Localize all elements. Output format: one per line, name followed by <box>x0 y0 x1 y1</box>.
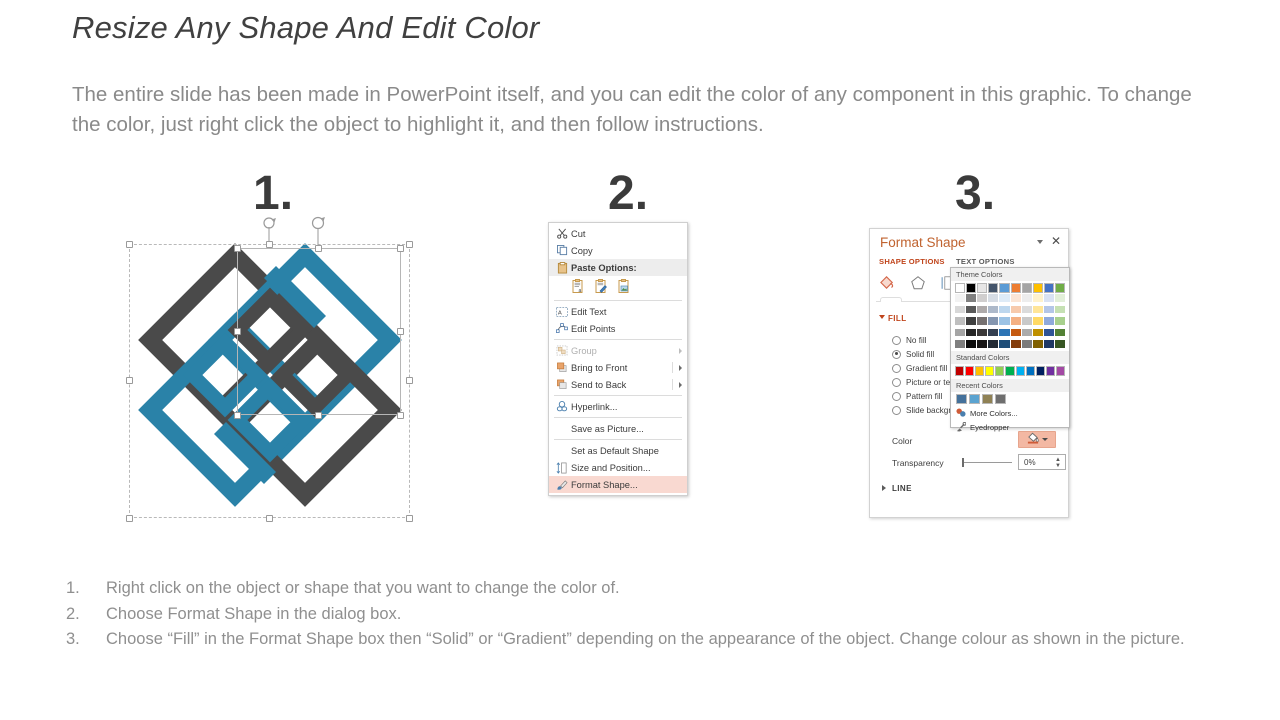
recent-colors-heading: Recent Colors <box>951 379 1069 392</box>
resize-handle-nw[interactable] <box>126 241 133 248</box>
color-picker-flyout[interactable]: Theme Colors Standard Colors Recent Colo… <box>950 267 1070 428</box>
theme-tint-swatch-3-0[interactable] <box>955 329 965 337</box>
theme-tint-swatch-2-1[interactable] <box>966 317 976 325</box>
more-colors-label: More Colors... <box>970 409 1018 418</box>
standard-colors-grid[interactable] <box>951 364 1069 379</box>
resize-handle-s[interactable] <box>266 515 273 522</box>
theme-colors-grid[interactable] <box>951 281 1069 293</box>
slider-knob[interactable] <box>962 458 964 467</box>
theme-color-swatch-6[interactable] <box>1022 283 1032 293</box>
submenu-divider <box>672 362 673 373</box>
theme-tint-swatch-0-5[interactable] <box>1011 294 1021 302</box>
theme-tint-swatch-1-4[interactable] <box>999 306 1009 314</box>
format-icon-row[interactable] <box>879 274 954 296</box>
resize-handle-sw[interactable] <box>126 515 133 522</box>
menu-item-label: Bring to Front <box>571 363 687 373</box>
instruction-number: 3. <box>66 627 106 653</box>
theme-tint-swatch-1-5[interactable] <box>1011 306 1021 314</box>
rotation-handle-outer[interactable] <box>261 217 277 233</box>
no-icon <box>553 421 571 436</box>
standard-color-swatch-5[interactable] <box>1005 366 1014 376</box>
menu-item-copy[interactable]: Copy <box>549 242 687 259</box>
theme-tint-swatch-1-2[interactable] <box>977 306 987 314</box>
theme-tint-swatch-1-9[interactable] <box>1055 306 1065 314</box>
standard-color-swatch-4[interactable] <box>995 366 1004 376</box>
theme-tint-swatch-4-9[interactable] <box>1055 340 1065 348</box>
theme-tint-swatch-0-2[interactable] <box>977 294 987 302</box>
color-label: Color <box>892 436 912 446</box>
inner-resize-handle-w[interactable] <box>234 328 241 335</box>
menu-item-label: Format Shape... <box>571 480 687 490</box>
standard-color-swatch-2[interactable] <box>975 366 984 376</box>
theme-tint-swatch-4-8[interactable] <box>1044 340 1054 348</box>
theme-color-swatch-9[interactable] <box>1055 283 1065 293</box>
no-icon <box>553 443 571 458</box>
tab-shape-options[interactable]: SHAPE OPTIONS <box>879 257 945 266</box>
theme-tint-swatch-1-7[interactable] <box>1033 306 1043 314</box>
menu-item-label: Cut <box>571 229 687 239</box>
copy-icon <box>553 243 571 258</box>
submenu-arrow-icon <box>679 365 682 371</box>
instruction-text: Right click on the object or shape that … <box>106 576 1276 602</box>
svg-text:a: a <box>579 288 582 294</box>
section-heading-line: LINE <box>892 484 912 493</box>
theme-tint-swatch-4-0[interactable] <box>955 340 965 348</box>
standard-color-swatch-9[interactable] <box>1046 366 1055 376</box>
theme-tint-swatch-2-6[interactable] <box>1022 317 1032 325</box>
radio-icon <box>892 336 901 345</box>
theme-tint-row-2[interactable] <box>951 316 1069 328</box>
paste-picture-icon[interactable] <box>617 279 631 296</box>
menu-item-edit-text[interactable]: A Edit Text <box>549 303 687 320</box>
theme-tint-swatch-2-2[interactable] <box>977 317 987 325</box>
menu-separator <box>554 439 682 440</box>
recent-color-swatch-1[interactable] <box>969 394 980 404</box>
step-number-1: 1. <box>253 170 293 218</box>
theme-tint-swatch-1-1[interactable] <box>966 306 976 314</box>
resize-handle-w[interactable] <box>126 377 133 384</box>
theme-tint-swatch-1-3[interactable] <box>988 306 998 314</box>
theme-tint-swatch-4-1[interactable] <box>966 340 976 348</box>
radio-icon-selected <box>892 350 901 359</box>
theme-tint-swatch-3-4[interactable] <box>999 329 1009 337</box>
instruction-number: 2. <box>66 602 106 628</box>
step-number-2: 2. <box>608 170 648 218</box>
menu-item-label: Hyperlink... <box>571 402 687 412</box>
paste-options-row[interactable]: a <box>549 276 687 298</box>
inner-resize-handle-ne[interactable] <box>397 245 404 252</box>
theme-tint-swatch-2-3[interactable] <box>988 317 998 325</box>
theme-tint-swatch-3-7[interactable] <box>1033 329 1043 337</box>
menu-item-label: Size and Position... <box>571 463 687 473</box>
shape-graphic-panel[interactable] <box>120 225 420 525</box>
recent-color-swatch-0[interactable] <box>956 394 967 404</box>
theme-tint-swatch-2-7[interactable] <box>1033 317 1043 325</box>
paste-keep-source-icon[interactable]: a <box>571 279 585 296</box>
transparency-slider[interactable] <box>962 462 1012 463</box>
edit-text-icon: A <box>553 304 571 319</box>
standard-color-swatch-6[interactable] <box>1016 366 1025 376</box>
theme-tint-swatch-0-0[interactable] <box>955 294 965 302</box>
group-icon <box>553 343 571 358</box>
theme-tint-swatch-4-4[interactable] <box>999 340 1009 348</box>
instruction-text: Choose Format Shape in the dialog box. <box>106 602 1276 628</box>
color-dropdown-caret-icon[interactable] <box>1042 438 1048 441</box>
selection-bounds-inner <box>237 248 401 415</box>
theme-color-swatch-7[interactable] <box>1033 283 1043 293</box>
transparency-value: 0% <box>1024 458 1036 467</box>
standard-color-swatch-7[interactable] <box>1026 366 1035 376</box>
size-position-icon <box>553 460 571 475</box>
theme-tint-row-0[interactable] <box>951 293 1069 305</box>
more-colors-item[interactable]: More Colors... <box>951 407 1069 421</box>
menu-item-label: Paste Options: <box>571 263 687 273</box>
theme-tint-swatch-2-4[interactable] <box>999 317 1009 325</box>
theme-color-swatch-1[interactable] <box>966 283 976 293</box>
theme-tint-swatch-0-3[interactable] <box>988 294 998 302</box>
format-shape-title: Format Shape <box>880 235 966 250</box>
menu-item-label: Group <box>571 346 687 356</box>
effects-icon[interactable] <box>910 275 926 296</box>
instruction-number: 1. <box>66 576 106 602</box>
resize-handle-ne[interactable] <box>406 241 413 248</box>
menu-item-cut[interactable]: Cut <box>549 225 687 242</box>
inner-resize-handle-sw[interactable] <box>234 412 241 419</box>
instruction-text: Choose “Fill” in the Format Shape box th… <box>106 627 1276 653</box>
paste-destination-theme-icon[interactable] <box>594 279 608 296</box>
menu-separator <box>554 300 682 301</box>
standard-color-swatch-10[interactable] <box>1056 366 1065 376</box>
theme-tint-swatch-2-0[interactable] <box>955 317 965 325</box>
theme-tint-swatch-4-5[interactable] <box>1011 340 1021 348</box>
radio-label: Solid fill <box>906 350 934 359</box>
theme-tint-swatch-1-8[interactable] <box>1044 306 1054 314</box>
pane-options-chevron-icon[interactable] <box>1037 240 1043 244</box>
fill-expand-caret-icon[interactable] <box>879 315 885 319</box>
tab-text-options[interactable]: TEXT OPTIONS <box>956 257 1015 266</box>
menu-item-label: Edit Text <box>571 307 687 317</box>
menu-item-size-and-position[interactable]: Size and Position... <box>549 459 687 476</box>
theme-tint-swatch-3-1[interactable] <box>966 329 976 337</box>
rotation-handle-inner[interactable] <box>310 217 326 233</box>
inner-resize-handle-nw[interactable] <box>234 245 241 252</box>
theme-tint-swatch-3-6[interactable] <box>1022 329 1032 337</box>
theme-colors-heading: Theme Colors <box>951 268 1069 281</box>
scissors-icon <box>553 226 571 241</box>
theme-tint-swatch-0-6[interactable] <box>1022 294 1032 302</box>
theme-tint-swatch-0-9[interactable] <box>1055 294 1065 302</box>
theme-color-swatch-5[interactable] <box>1011 283 1021 293</box>
theme-tint-swatch-1-0[interactable] <box>955 306 965 314</box>
theme-color-swatch-0[interactable] <box>955 283 965 293</box>
theme-color-swatch-3[interactable] <box>988 283 998 293</box>
format-shape-icon <box>553 477 571 492</box>
standard-color-swatch-0[interactable] <box>955 366 964 376</box>
radio-label: No fill <box>906 336 926 345</box>
send-back-icon <box>553 377 571 392</box>
recent-colors-grid[interactable] <box>951 392 1069 407</box>
menu-item-bring-to-front[interactable]: Bring to Front <box>549 359 687 376</box>
menu-item-send-to-back[interactable]: Send to Back <box>549 376 687 393</box>
fill-line-icon[interactable] <box>879 274 896 296</box>
theme-tint-swatch-2-5[interactable] <box>1011 317 1021 325</box>
theme-tint-swatch-0-4[interactable] <box>999 294 1009 302</box>
menu-item-set-default-shape[interactable]: Set as Default Shape <box>549 442 687 459</box>
transparency-value-field[interactable]: 0% ▲▼ <box>1018 454 1066 470</box>
theme-tint-swatch-3-2[interactable] <box>977 329 987 337</box>
resize-handle-e[interactable] <box>406 377 413 384</box>
menu-item-label: Edit Points <box>571 324 687 334</box>
inner-resize-handle-s[interactable] <box>315 412 322 419</box>
instructions-list: 1. Right click on the object or shape th… <box>66 576 1276 653</box>
edit-points-icon <box>553 321 571 336</box>
theme-color-swatch-4[interactable] <box>999 283 1009 293</box>
line-expand-caret-icon[interactable] <box>882 485 886 491</box>
context-menu[interactable]: Cut Copy Paste Options: a <box>548 222 688 496</box>
theme-tint-swatch-3-8[interactable] <box>1044 329 1054 337</box>
menu-separator <box>554 395 682 396</box>
inner-resize-handle-e[interactable] <box>397 328 404 335</box>
standard-color-swatch-8[interactable] <box>1036 366 1045 376</box>
recent-color-swatch-2[interactable] <box>982 394 993 404</box>
theme-tint-swatch-0-8[interactable] <box>1044 294 1054 302</box>
radio-label: Pattern fill <box>906 392 942 401</box>
bring-front-icon <box>553 360 571 375</box>
menu-separator <box>554 339 682 340</box>
eyedropper-item[interactable]: Eyedropper <box>951 421 1069 435</box>
recent-color-swatch-3[interactable] <box>995 394 1006 404</box>
transparency-label: Transparency <box>892 458 944 468</box>
inner-resize-handle-se[interactable] <box>397 412 404 419</box>
page-subtitle: The entire slide has been made in PowerP… <box>72 80 1212 140</box>
standard-color-swatch-1[interactable] <box>965 366 974 376</box>
menu-item-format-shape[interactable]: Format Shape... <box>549 476 687 493</box>
slide: Resize Any Shape And Edit Color The enti… <box>0 0 1280 720</box>
theme-tint-row-4[interactable] <box>951 339 1069 351</box>
standard-color-swatch-3[interactable] <box>985 366 994 376</box>
theme-tint-swatch-4-3[interactable] <box>988 340 998 348</box>
menu-item-hyperlink[interactable]: Hyperlink... <box>549 398 687 415</box>
standard-colors-heading: Standard Colors <box>951 351 1069 364</box>
radio-icon <box>892 406 901 415</box>
theme-tint-swatch-3-3[interactable] <box>988 329 998 337</box>
step-number-3: 3. <box>955 170 995 218</box>
svg-text:A: A <box>558 310 562 316</box>
theme-tints-grid[interactable] <box>951 293 1069 351</box>
theme-tint-row-3[interactable] <box>951 328 1069 340</box>
menu-item-paste-options: Paste Options: <box>549 259 687 276</box>
theme-color-swatch-8[interactable] <box>1044 283 1054 293</box>
theme-color-swatch-2[interactable] <box>977 283 987 293</box>
menu-separator <box>554 417 682 418</box>
theme-tint-swatch-1-6[interactable] <box>1022 306 1032 314</box>
theme-tint-swatch-2-9[interactable] <box>1055 317 1065 325</box>
theme-tint-row-1[interactable] <box>951 305 1069 317</box>
menu-item-group: Group <box>549 342 687 359</box>
spinner-arrows-icon[interactable]: ▲▼ <box>1055 457 1061 469</box>
submenu-arrow-icon <box>679 382 682 388</box>
radio-icon <box>892 392 901 401</box>
menu-item-label: Send to Back <box>571 380 687 390</box>
resize-handle-se[interactable] <box>406 515 413 522</box>
eyedropper-icon <box>956 422 966 434</box>
section-heading-fill: FILL <box>888 314 906 323</box>
radio-icon <box>892 378 901 387</box>
theme-tint-swatch-2-8[interactable] <box>1044 317 1054 325</box>
menu-item-label: Copy <box>571 246 687 256</box>
submenu-divider <box>672 379 673 390</box>
radio-label: Gradient fill <box>906 364 947 373</box>
radio-icon <box>892 364 901 373</box>
page-title: Resize Any Shape And Edit Color <box>72 10 539 46</box>
more-colors-icon <box>956 408 966 420</box>
clipboard-icon <box>553 260 571 275</box>
theme-tint-swatch-3-5[interactable] <box>1011 329 1021 337</box>
close-icon[interactable]: ✕ <box>1051 235 1061 247</box>
theme-tint-swatch-3-9[interactable] <box>1055 329 1065 337</box>
theme-tint-swatch-0-1[interactable] <box>966 294 976 302</box>
menu-item-label: Set as Default Shape <box>571 446 687 456</box>
theme-tint-swatch-0-7[interactable] <box>1033 294 1043 302</box>
instruction-row: 1. Right click on the object or shape th… <box>66 576 1276 602</box>
eyedropper-label: Eyedropper <box>970 423 1009 432</box>
menu-item-label: Save as Picture... <box>571 424 687 434</box>
instruction-row: 3. Choose “Fill” in the Format Shape box… <box>66 627 1276 653</box>
hyperlink-icon <box>553 399 571 414</box>
theme-tint-swatch-4-7[interactable] <box>1033 340 1043 348</box>
menu-item-save-as-picture[interactable]: Save as Picture... <box>549 420 687 437</box>
instruction-row: 2. Choose Format Shape in the dialog box… <box>66 602 1276 628</box>
menu-item-edit-points[interactable]: Edit Points <box>549 320 687 337</box>
submenu-arrow-icon <box>679 348 682 354</box>
theme-tint-swatch-4-2[interactable] <box>977 340 987 348</box>
theme-tint-swatch-4-6[interactable] <box>1022 340 1032 348</box>
